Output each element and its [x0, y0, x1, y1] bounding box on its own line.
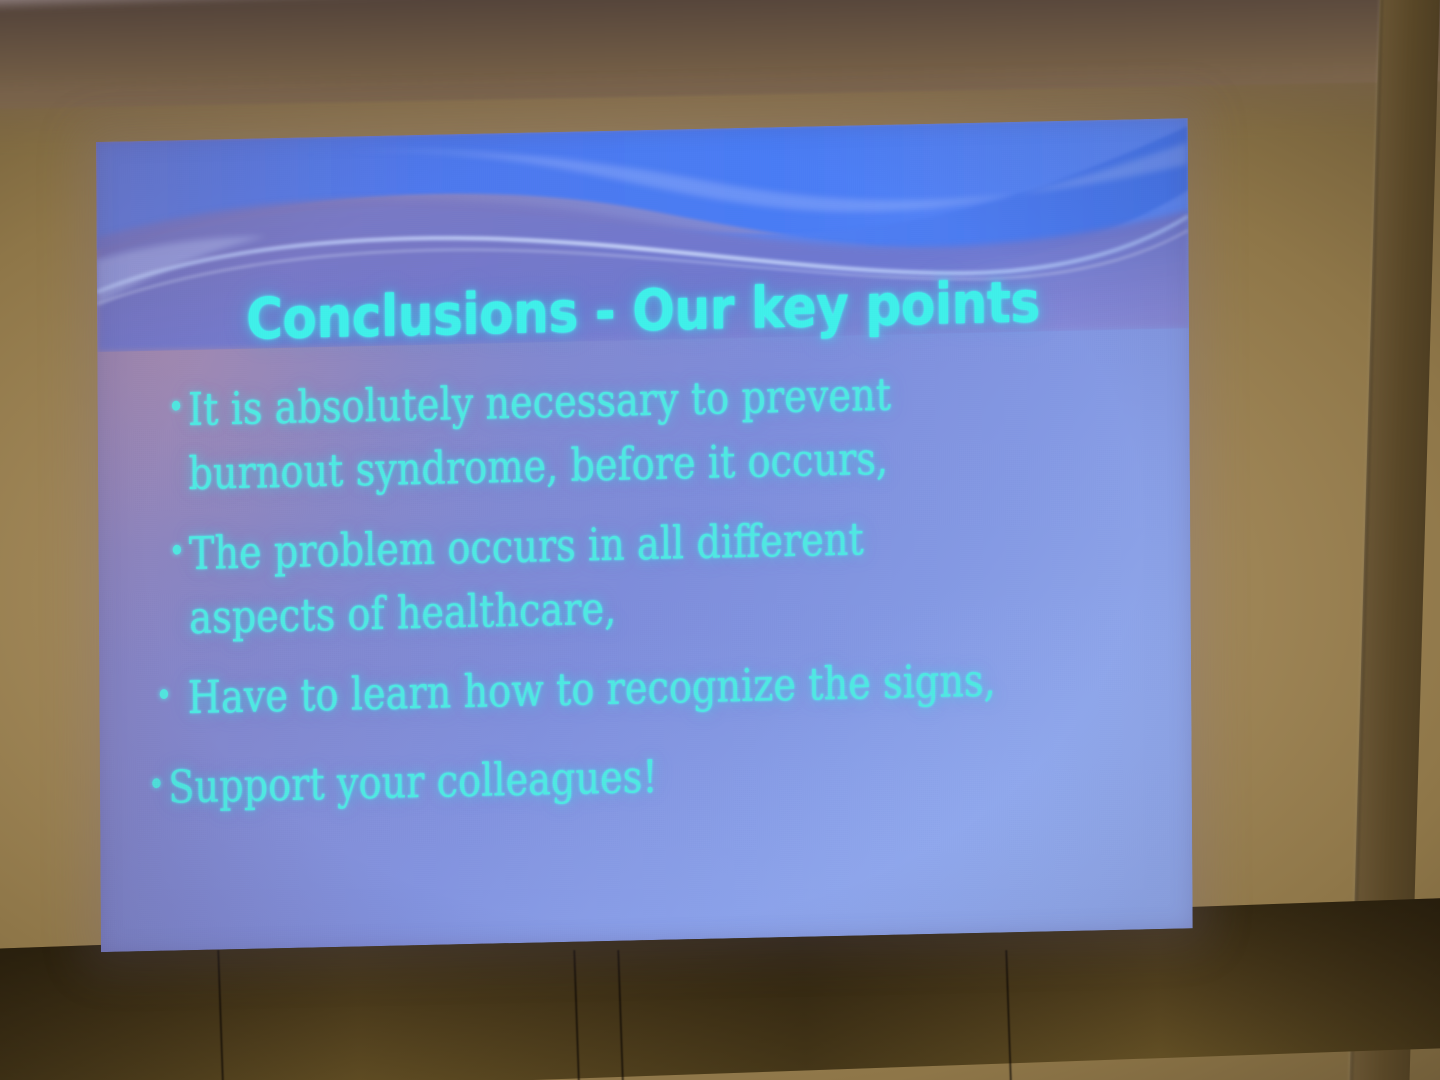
bullet-dot-icon: •	[148, 756, 169, 815]
presentation-photo-scene: Conclusions - Our key points • It is abs…	[0, 0, 1440, 1080]
list-item: • Have to learn how to recognize the sig…	[155, 648, 1014, 731]
bullet-dot-icon: •	[168, 522, 189, 581]
bullet-text: Support your colleagues!	[168, 738, 1013, 820]
bullet-text: Have to learn how to recognize the signs…	[176, 648, 1014, 730]
list-item: • The problem occurs in all different as…	[168, 504, 1015, 650]
bullet-text: The problem occurs in all different aspe…	[189, 504, 1016, 650]
bullet-dot-icon: •	[155, 666, 176, 725]
slide-bullet-list: • It is absolutely necessary to prevent …	[145, 357, 1166, 837]
projection-screen-area: Conclusions - Our key points • It is abs…	[0, 0, 1440, 1080]
list-item: • Support your colleagues!	[148, 738, 1013, 821]
list-item: • It is absolutely necessary to prevent …	[167, 360, 1014, 506]
bullet-dot-icon: •	[167, 378, 188, 437]
projected-slide: Conclusions - Our key points • It is abs…	[96, 118, 1193, 952]
bullet-text: It is absolutely necessary to prevent bu…	[188, 360, 1015, 506]
